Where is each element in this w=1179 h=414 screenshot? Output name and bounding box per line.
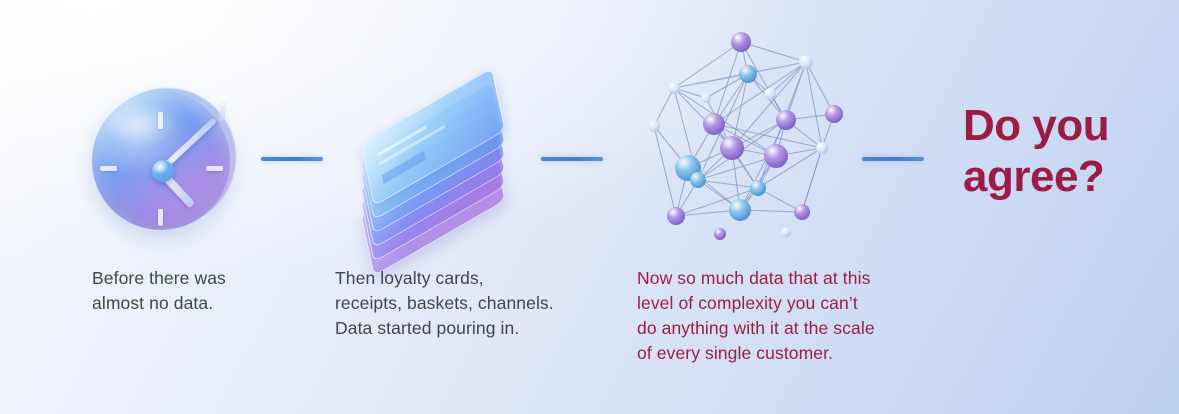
clock-tick-9 bbox=[100, 166, 117, 171]
connector-1 bbox=[261, 157, 323, 161]
clock-icon bbox=[92, 84, 244, 234]
clock-tick-3 bbox=[206, 166, 223, 171]
infographic-canvas: Do you agree? Before there was almost no… bbox=[0, 0, 1179, 414]
clock-tick-6 bbox=[158, 209, 163, 226]
headline: Do you agree? bbox=[963, 100, 1163, 202]
stacked-layers-icon bbox=[357, 86, 531, 226]
step-3-caption: Now so much data that at this level of c… bbox=[637, 266, 937, 366]
step-1-caption: Before there was almost no data. bbox=[92, 266, 322, 316]
clock-tick-12 bbox=[158, 112, 163, 129]
clock-face bbox=[92, 92, 230, 230]
clock-center-hub bbox=[152, 160, 174, 182]
connector-2 bbox=[541, 157, 603, 161]
clock-stem bbox=[219, 96, 228, 122]
connector-3 bbox=[862, 157, 924, 161]
step-2-caption: Then loyalty cards, receipts, baskets, c… bbox=[335, 266, 585, 341]
network-graph-icon bbox=[636, 28, 848, 240]
